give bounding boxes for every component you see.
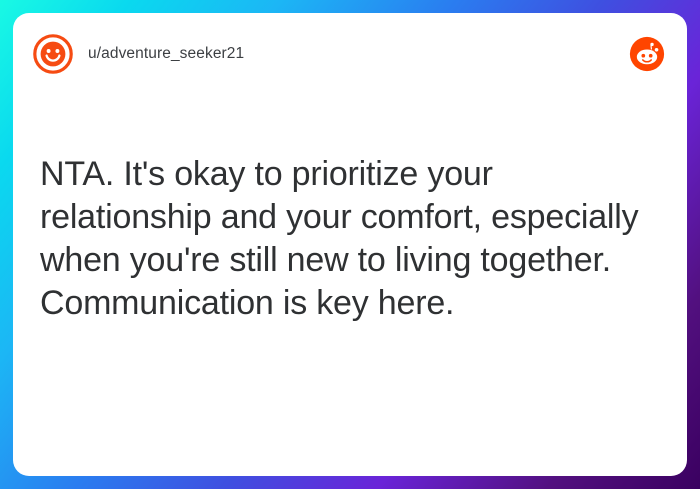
post-text: NTA. It's okay to prioritize your relati… (40, 153, 667, 325)
reddit-comment-card: u/adventure_seeker21 NTA. It's okay to p… (13, 13, 687, 476)
card-header: u/adventure_seeker21 (13, 13, 687, 95)
screenshot-root: u/adventure_seeker21 NTA. It's okay to p… (0, 0, 700, 489)
card-body: NTA. It's okay to prioritize your relati… (40, 153, 667, 325)
reddit-snoo-icon[interactable] (629, 36, 665, 72)
avatar[interactable] (33, 34, 73, 74)
username-label: u/adventure_seeker21 (88, 45, 244, 63)
